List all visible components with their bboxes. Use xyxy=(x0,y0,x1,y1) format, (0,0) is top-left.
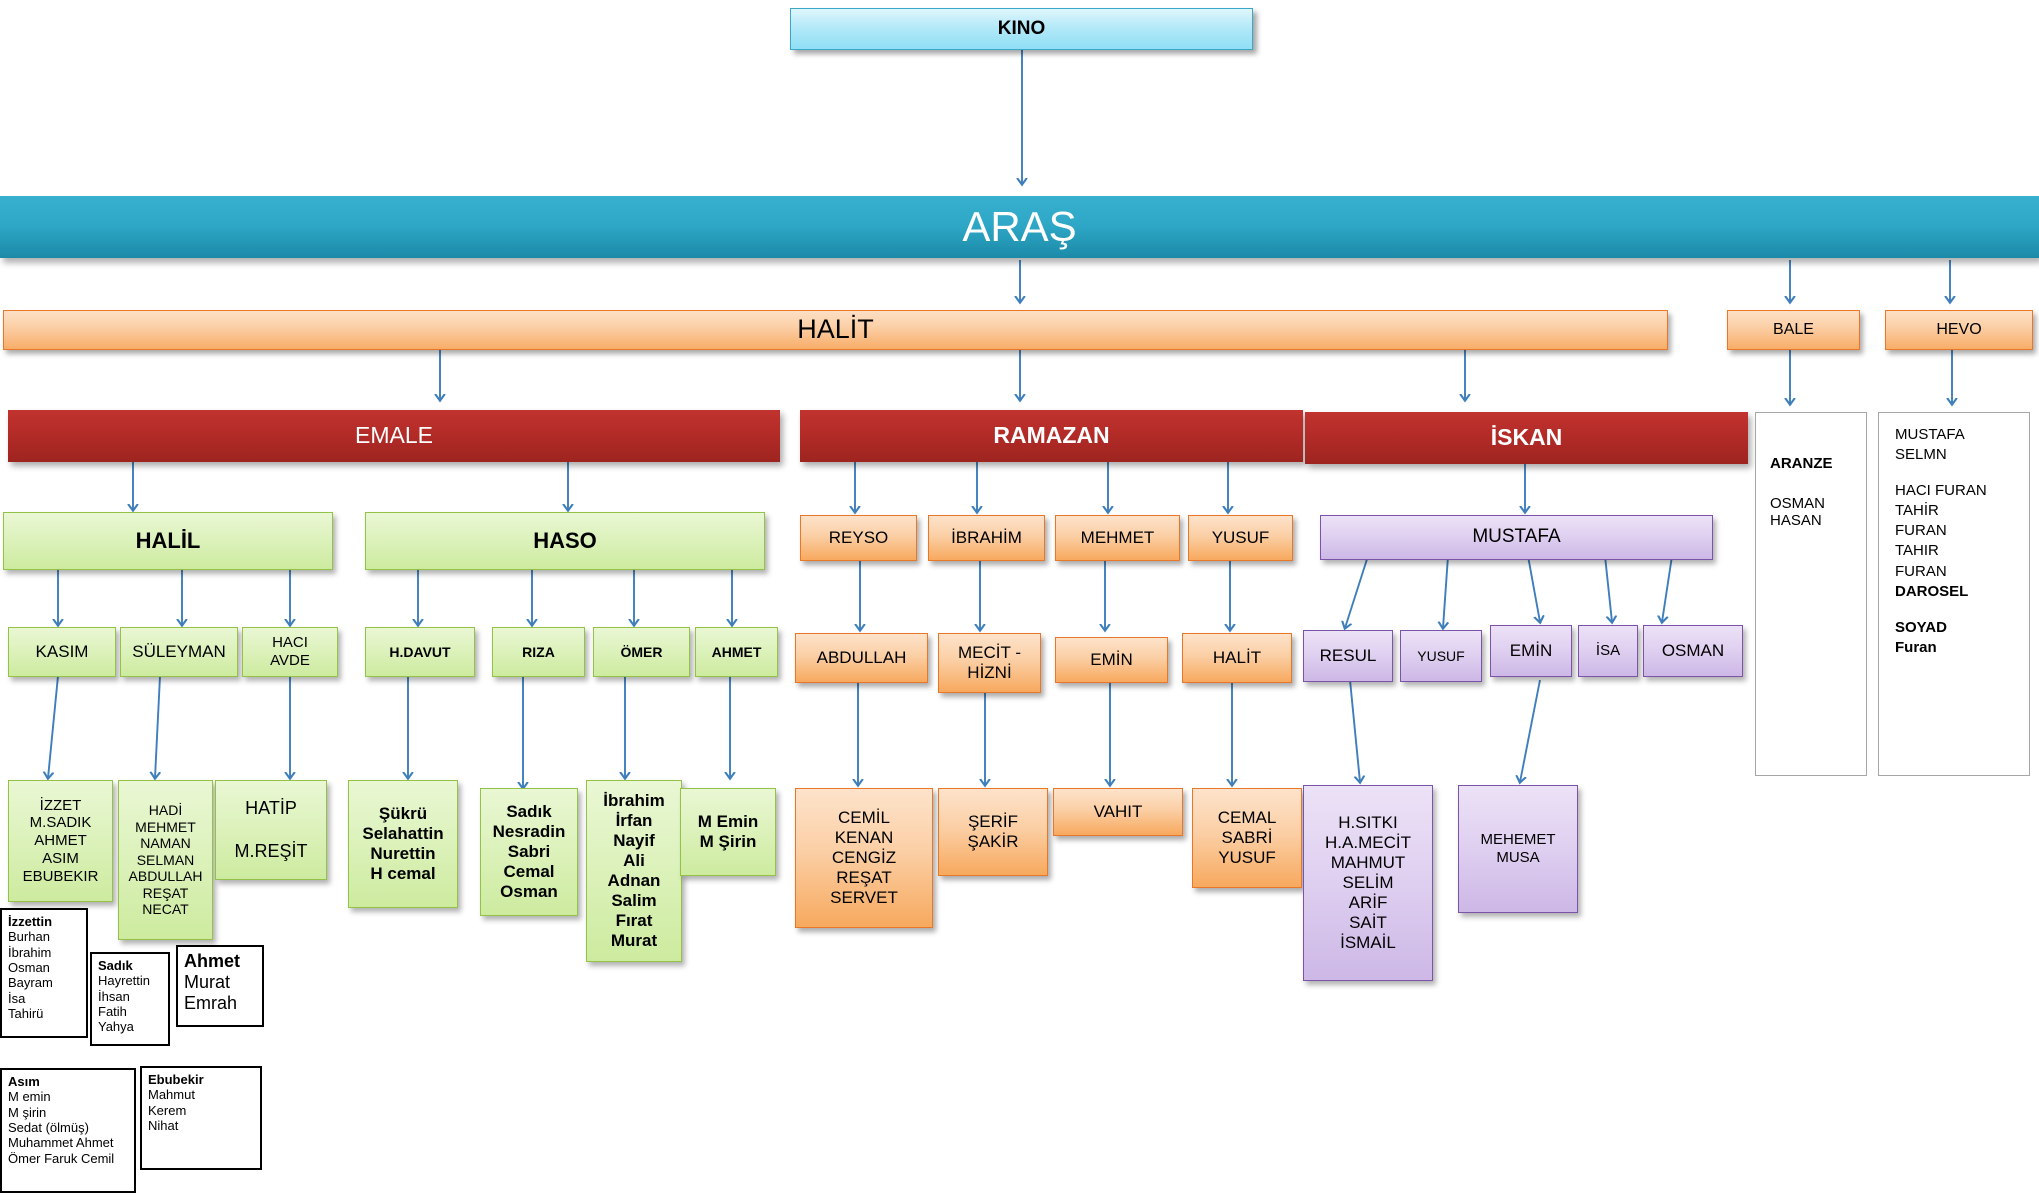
note-asim-header: Asım xyxy=(8,1074,40,1089)
note-ebubekir-item-0: Mahmut xyxy=(148,1087,195,1102)
node-suleyman-label: SÜLEYMAN xyxy=(132,642,226,662)
node-ibrahim[interactable]: İBRAHİM xyxy=(928,515,1045,561)
node-yusuf-iskan-label: YUSUF xyxy=(1417,648,1464,665)
note-asim[interactable]: Asım M emin M şirin Sedat (ölmüş) Muhamm… xyxy=(0,1068,136,1193)
note-izzettin[interactable]: İzzettin Burhan İbrahim Osman Bayram İsa… xyxy=(0,908,88,1038)
node-hevo[interactable]: HEVO xyxy=(1885,310,2033,350)
family-tree-diagram: KINO ARAŞ HALİT BALE HEVO EMALE RAMAZAN … xyxy=(0,0,2039,1200)
note-izzettin-item-3: Bayram xyxy=(8,975,53,990)
node-isa[interactable]: İSA xyxy=(1578,625,1638,677)
node-kasim-label: KASIM xyxy=(36,642,89,662)
node-haso-label: HASO xyxy=(533,528,597,554)
note-asim-item-4: Ömer Faruk Cemil xyxy=(8,1151,114,1166)
node-abdullah-children[interactable]: CEMİL KENAN CENGİZ REŞAT SERVET xyxy=(795,788,933,928)
node-mecit-hizni-label: MECİT - HİZNİ xyxy=(939,643,1040,683)
node-mecit-hizni[interactable]: MECİT - HİZNİ xyxy=(938,633,1041,693)
node-kino-label: KINO xyxy=(998,18,1046,40)
node-yusuf-ramazan-label: YUSUF xyxy=(1212,528,1270,548)
node-omer[interactable]: ÖMER xyxy=(593,627,690,677)
node-kasim[interactable]: KASIM xyxy=(8,627,116,677)
node-reyso[interactable]: REYSO xyxy=(800,515,917,561)
legend-hevo-line-5: FURAN xyxy=(1895,521,1947,541)
node-mustafa[interactable]: MUSTAFA xyxy=(1320,515,1713,560)
legend-aranze-header: ARANZE xyxy=(1770,455,1833,473)
node-emale-label: EMALE xyxy=(355,422,433,449)
node-ramazan[interactable]: RAMAZAN xyxy=(800,410,1303,462)
node-resul[interactable]: RESUL xyxy=(1303,630,1393,682)
riza-children-list: Sadık Nesradin Sabri Cemal Osman xyxy=(481,802,577,902)
note-sadik-item-3: Yahya xyxy=(98,1019,134,1034)
node-abdullah-label: ABDULLAH xyxy=(817,648,907,668)
node-vahit[interactable]: VAHIT xyxy=(1053,788,1183,836)
note-izzettin-item-2: Osman xyxy=(8,960,50,975)
note-asim-item-2: Sedat (ölmüş) xyxy=(8,1120,89,1135)
node-abdullah[interactable]: ABDULLAH xyxy=(795,633,928,683)
node-haci-avde-children[interactable]: HATİP M.REŞİT xyxy=(215,780,327,880)
legend-hevo-line-3: HACI FURAN xyxy=(1895,481,1987,501)
node-halit-ramazan-label: HALİT xyxy=(1213,648,1261,668)
node-bale[interactable]: BALE xyxy=(1727,310,1860,350)
note-ahmet[interactable]: Ahmet Murat Emrah xyxy=(176,945,264,1027)
node-halil[interactable]: HALİL xyxy=(3,512,333,570)
node-mustafa-label: MUSTAFA xyxy=(1472,526,1560,548)
node-emin-iskan-label: EMİN xyxy=(1510,641,1553,661)
node-suleyman-children[interactable]: HADİ MEHMET NAMAN SELMAN ABDULLAH REŞAT … xyxy=(118,780,213,940)
note-sadik-item-2: Fatih xyxy=(98,1004,127,1019)
haci-avde-children-list: HATİP M.REŞİT xyxy=(216,798,326,862)
kasim-children-list: İZZET M.SADIK AHMET ASIM EBUBEKIR xyxy=(9,797,112,885)
node-aras[interactable]: ARAŞ xyxy=(0,196,2039,258)
note-sadik-header: Sadık xyxy=(98,958,133,973)
node-osman-iskan-label: OSMAN xyxy=(1662,641,1724,661)
note-izzettin-item-1: İbrahim xyxy=(8,945,51,960)
note-izzettin-item-5: Tahirü xyxy=(8,1006,43,1021)
node-kino[interactable]: KINO xyxy=(790,8,1253,50)
node-ahmet-children[interactable]: M Emin M Şirin xyxy=(680,788,776,876)
node-emin-ramazan[interactable]: EMİN xyxy=(1055,637,1168,683)
node-halit[interactable]: HALİT xyxy=(3,310,1668,350)
note-ebubekir-header: Ebubekir xyxy=(148,1072,204,1087)
node-yusuf-ramazan[interactable]: YUSUF xyxy=(1188,515,1293,561)
legend-hevo-darosel: DAROSEL xyxy=(1895,582,1968,602)
node-resul-label: RESUL xyxy=(1320,646,1377,666)
node-reyso-label: REYSO xyxy=(829,528,889,548)
note-ebubekir[interactable]: Ebubekir Mahmut Kerem Nihat xyxy=(140,1066,262,1170)
node-riza-label: RIZA xyxy=(522,644,555,661)
legend-hevo-line-4: TAHİR xyxy=(1895,501,1939,521)
node-isa-label: İSA xyxy=(1596,642,1620,660)
note-izzettin-header: İzzettin xyxy=(8,914,52,929)
note-asim-item-3: Muhammet Ahmet xyxy=(8,1135,114,1150)
node-riza[interactable]: RIZA xyxy=(492,627,585,677)
node-omer-label: ÖMER xyxy=(621,644,663,661)
note-ahmet-header: Ahmet xyxy=(184,951,240,972)
node-ibrahim-label: İBRAHİM xyxy=(951,528,1022,548)
node-osman-iskan[interactable]: OSMAN xyxy=(1643,625,1743,677)
node-vahit-label: VAHIT xyxy=(1094,802,1143,822)
node-resul-children[interactable]: H.SITKI H.A.MECİT MAHMUT SELİM ARİF SAİT… xyxy=(1303,785,1433,981)
resul-children-list: H.SITKI H.A.MECİT MAHMUT SELİM ARİF SAİT… xyxy=(1304,813,1432,953)
legend-hevo-line-1: SELMN xyxy=(1895,445,1947,465)
legend-aranze[interactable]: ARANZE OSMAN HASAN xyxy=(1755,412,1867,776)
cemal-sabri-yusuf-list: CEMAL SABRİ YUSUF xyxy=(1193,808,1301,868)
emin-iskan-children-list: MEHEMET MUSA xyxy=(1459,831,1577,866)
node-cemal-sabri-yusuf[interactable]: CEMAL SABRİ YUSUF xyxy=(1192,788,1302,888)
note-izzettin-item-0: Burhan xyxy=(8,929,50,944)
node-bale-label: BALE xyxy=(1773,321,1814,340)
node-hevo-label: HEVO xyxy=(1936,321,1981,340)
legend-soyad-header: SOYAD xyxy=(1895,618,1947,638)
node-emale[interactable]: EMALE xyxy=(8,410,780,462)
ahmet-children-list: M Emin M Şirin xyxy=(681,812,775,852)
legend-soyad-value: Furan xyxy=(1895,638,1937,658)
legend-hevo-line-0: MUSTAFA xyxy=(1895,425,1965,445)
node-emin-iskan-children[interactable]: MEHEMET MUSA xyxy=(1458,785,1578,913)
note-sadik-item-0: Hayrettin xyxy=(98,973,150,988)
abdullah-children-list: CEMİL KENAN CENGİZ REŞAT SERVET xyxy=(796,808,932,908)
note-ahmet-item-0: Murat xyxy=(184,972,230,993)
note-asim-item-1: M şirin xyxy=(8,1105,46,1120)
suleyman-children-list: HADİ MEHMET NAMAN SELMAN ABDULLAH REŞAT … xyxy=(119,802,212,918)
node-ahmet[interactable]: AHMET xyxy=(695,627,778,677)
node-mehmet-label: MEHMET xyxy=(1081,528,1155,548)
connector-arrows xyxy=(0,0,2039,1200)
node-haso[interactable]: HASO xyxy=(365,512,765,570)
serif-sakir-list: ŞERİF ŞAKİR xyxy=(939,812,1047,852)
legend-aranze-item-1: HASAN xyxy=(1770,512,1822,530)
node-hdavut-children[interactable]: Şükrü Selahattin Nurettin H cemal xyxy=(348,780,458,908)
node-kasim-children[interactable]: İZZET M.SADIK AHMET ASIM EBUBEKIR xyxy=(8,780,113,902)
legend-hevo-line-6: TAHIR xyxy=(1895,541,1939,561)
hdavut-children-list: Şükrü Selahattin Nurettin H cemal xyxy=(349,804,457,884)
note-ebubekir-item-1: Kerem xyxy=(148,1103,186,1118)
node-halit-label: HALİT xyxy=(797,314,874,346)
node-serif-sakir[interactable]: ŞERİF ŞAKİR xyxy=(938,788,1048,876)
node-ramazan-label: RAMAZAN xyxy=(993,422,1109,449)
legend-aranze-item-0: OSMAN xyxy=(1770,495,1825,513)
node-yusuf-iskan[interactable]: YUSUF xyxy=(1400,630,1482,682)
omer-children-list: İbrahim İrfan Nayif Ali Adnan Salim Fıra… xyxy=(587,791,681,951)
node-iskan-label: İSKAN xyxy=(1491,424,1563,451)
node-haci-avde-label: HACI AVDE xyxy=(270,634,310,669)
node-emin-iskan[interactable]: EMİN xyxy=(1490,625,1572,677)
note-asim-item-0: M emin xyxy=(8,1089,51,1104)
node-iskan[interactable]: İSKAN xyxy=(1305,412,1748,464)
node-suleyman[interactable]: SÜLEYMAN xyxy=(120,627,238,677)
note-ebubekir-item-2: Nihat xyxy=(148,1118,178,1133)
node-hdavut-label: H.DAVUT xyxy=(389,644,450,661)
legend-hevo-line-7: FURAN xyxy=(1895,562,1947,582)
node-hdavut[interactable]: H.DAVUT xyxy=(365,627,475,677)
node-aras-label: ARAŞ xyxy=(962,202,1076,252)
note-ahmet-item-1: Emrah xyxy=(184,993,237,1014)
node-omer-children[interactable]: İbrahim İrfan Nayif Ali Adnan Salim Fıra… xyxy=(586,780,682,962)
note-sadik[interactable]: Sadık Hayrettin İhsan Fatih Yahya xyxy=(90,952,170,1046)
node-haci-avde[interactable]: HACI AVDE xyxy=(242,627,338,677)
node-mehmet[interactable]: MEHMET xyxy=(1055,515,1180,561)
node-emin-ramazan-label: EMİN xyxy=(1090,650,1133,670)
legend-hevo-list[interactable]: MUSTAFA SELMN HACI FURAN TAHİR FURAN TAH… xyxy=(1878,412,2030,776)
node-ahmet-label: AHMET xyxy=(712,644,762,661)
node-riza-children[interactable]: Sadık Nesradin Sabri Cemal Osman xyxy=(480,788,578,916)
note-sadik-item-1: İhsan xyxy=(98,989,130,1004)
node-halit-ramazan[interactable]: HALİT xyxy=(1182,633,1292,683)
node-halil-label: HALİL xyxy=(136,528,201,554)
note-izzettin-item-4: İsa xyxy=(8,991,25,1006)
